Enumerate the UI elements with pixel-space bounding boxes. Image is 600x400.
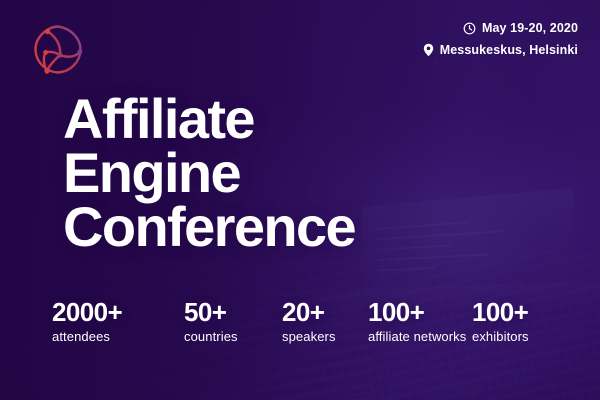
banner-content: May 19-20, 2020 Messukeskus, Helsinki Af… xyxy=(0,0,600,400)
event-date-text: May 19-20, 2020 xyxy=(482,21,578,37)
stat-label: countries xyxy=(184,329,282,345)
stat-value: 20+ xyxy=(282,298,368,326)
stat-value: 50+ xyxy=(184,298,282,326)
headline-line-3: Conference xyxy=(63,200,355,254)
stat-speakers: 20+ speakers xyxy=(282,298,368,345)
map-pin-icon xyxy=(423,43,434,57)
conference-banner: May 19-20, 2020 Messukeskus, Helsinki Af… xyxy=(0,0,600,400)
event-location-text: Messukeskus, Helsinki xyxy=(440,43,578,59)
stat-label: exhibitors xyxy=(472,329,529,345)
page-title: Affiliate Engine Conference xyxy=(63,92,355,253)
stat-countries: 50+ countries xyxy=(184,298,282,345)
stats-row: 2000+ attendees 50+ countries 20+ speake… xyxy=(52,298,574,345)
headline-line-2: Engine xyxy=(63,146,355,200)
stat-label: attendees xyxy=(52,329,184,345)
stat-exhibitors: 100+ exhibitors xyxy=(472,298,529,345)
stat-value: 100+ xyxy=(368,298,472,326)
event-date-row: May 19-20, 2020 xyxy=(423,21,578,37)
headline-line-1: Affiliate xyxy=(63,92,355,146)
stat-affiliate-networks: 100+ affiliate networks xyxy=(368,298,472,345)
stat-label: speakers xyxy=(282,329,368,345)
clock-icon xyxy=(463,22,476,35)
stat-label: affiliate networks xyxy=(368,329,472,345)
stat-attendees: 2000+ attendees xyxy=(52,298,184,345)
event-meta: May 19-20, 2020 Messukeskus, Helsinki xyxy=(423,21,578,58)
stat-value: 100+ xyxy=(472,298,529,326)
affiliate-engine-logo[interactable] xyxy=(27,19,89,81)
stat-value: 2000+ xyxy=(52,298,184,326)
event-location-row: Messukeskus, Helsinki xyxy=(423,43,578,59)
